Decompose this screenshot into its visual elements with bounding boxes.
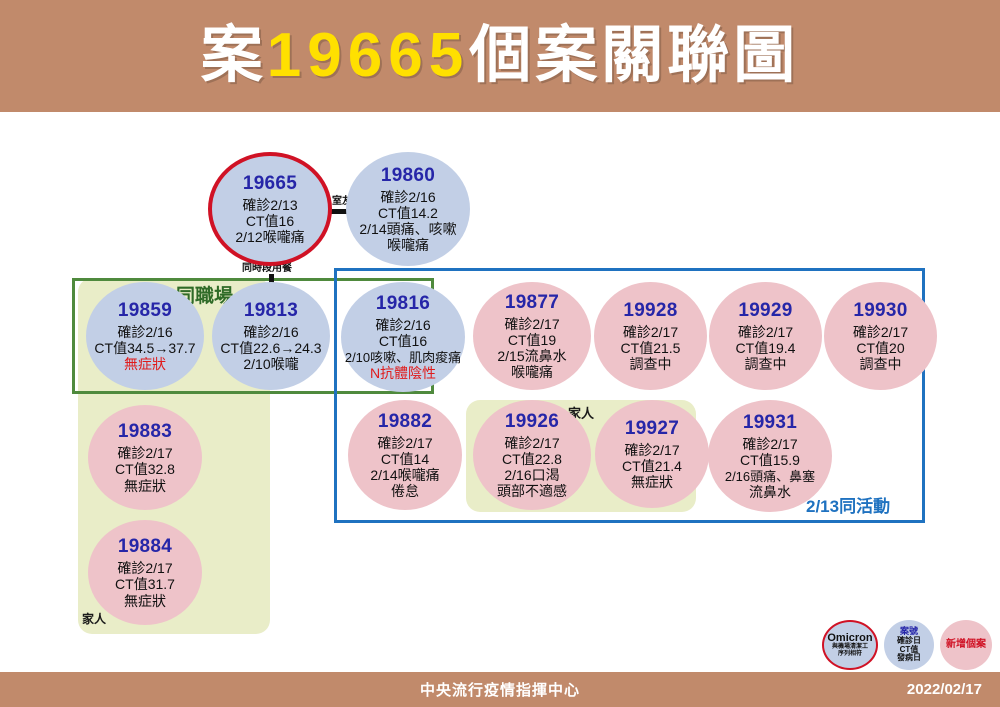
ct-value-highlight: 14.2 [411, 205, 438, 221]
family-group-left-label: 家人 [82, 610, 106, 627]
case-node-line: CT值32.8 [115, 461, 175, 477]
case-node-19816[interactable]: 19816 確診2/16 CT值16 2/10咳嗽、肌肉痠痛 N抗體陰性 [341, 282, 465, 392]
case-node-line: 確診2/17 [623, 324, 678, 340]
ct-value-highlight: →37.7 [154, 340, 195, 356]
case-node-line: CT值19 [508, 332, 556, 348]
case-node-line: CT值16 [379, 333, 427, 349]
case-node-line: 調查中 [860, 356, 902, 372]
case-node-line: 無症狀 [124, 356, 166, 372]
case-node-line: 2/16頭痛、鼻塞 [725, 469, 815, 484]
case-node-19926[interactable]: 19926 確診2/17 CT值22.8 2/16口渴 頭部不適感 [473, 400, 591, 510]
case-node-line: 頭部不適感 [497, 483, 567, 499]
case-node-id: 19926 [505, 411, 559, 433]
case-node-line: 確診2/17 [504, 316, 559, 332]
case-node-line: 無症狀 [124, 593, 166, 609]
case-node-19930[interactable]: 19930 確診2/17 CT值20 調查中 [824, 282, 937, 390]
case-node-line: 2/14頭痛、咳嗽 [359, 221, 456, 237]
header-band: 案19665個案關聯圖 [0, 0, 1000, 112]
case-node-id: 19816 [376, 293, 430, 315]
case-node-line: 2/12喉嚨痛 [235, 229, 304, 245]
case-node-line: 確診2/16 [375, 317, 430, 333]
case-node-id: 19931 [743, 412, 797, 434]
case-node-line: CT值20 [856, 340, 904, 356]
case-node-19877[interactable]: 19877 確診2/17 CT值19 2/15流鼻水 喉嚨痛 [473, 282, 591, 390]
case-node-id: 19860 [381, 165, 435, 187]
case-node-id: 19882 [378, 411, 432, 433]
case-node-19859[interactable]: 19859 確診2/16 CT值34.5→37.7 無症狀 [86, 282, 204, 390]
case-node-line: 無症狀 [631, 474, 673, 490]
case-node-19928[interactable]: 19928 確診2/17 CT值21.5 調查中 [594, 282, 707, 390]
case-node-line: CT值21.5 [621, 340, 681, 356]
case-node-line: 確診2/17 [742, 436, 797, 452]
footer-date: 2022/02/17 [907, 681, 982, 698]
page-title-suffix: 個案關聯圖 [469, 21, 799, 90]
ct-label: CT值22.6 [220, 340, 280, 356]
ct-value-highlight: →24.3 [280, 340, 321, 356]
page-title-case-number: 19665 [267, 21, 469, 90]
legend-new-case: 新增個案 [940, 620, 992, 670]
case-node-line: 確診2/17 [117, 560, 172, 576]
case-node-line: 確診2/17 [624, 442, 679, 458]
case-node-line: 2/10喉嚨 [243, 356, 298, 372]
case-node-line: 喉嚨痛 [511, 364, 553, 380]
case-node-line: CT值22.6→24.3 [220, 340, 321, 356]
case-node-id: 19665 [243, 173, 297, 195]
case-node-line: 確診2/17 [504, 435, 559, 451]
footer-organization: 中央流行疫情指揮中心 [420, 679, 580, 700]
legend-omicron-line3: 序列相符 [838, 651, 862, 657]
legend-new-case-label: 新增個案 [946, 640, 986, 651]
case-node-line: CT值14 [381, 451, 429, 467]
legend-omicron: Omicron 與機場清潔工 序列相符 [822, 620, 878, 670]
case-node-id: 19884 [118, 536, 172, 558]
case-node-id: 19859 [118, 300, 172, 322]
case-node-19929[interactable]: 19929 確診2/17 CT值19.4 調查中 [709, 282, 822, 390]
case-node-id: 19928 [623, 300, 677, 322]
case-node-line: CT值31.7 [115, 576, 175, 592]
activity-group-label: 2/13同活動 [806, 492, 890, 517]
page-title-prefix: 案 [201, 21, 267, 90]
case-node-19665[interactable]: 19665 確診2/13 CT值16 2/12喉嚨痛 [208, 152, 332, 266]
case-node-line: N抗體陰性 [370, 365, 436, 381]
case-node-id: 19813 [244, 300, 298, 322]
case-node-19931[interactable]: 19931 確診2/17 CT值15.9 2/16頭痛、鼻塞 流鼻水 [708, 400, 832, 512]
case-node-line: 調查中 [630, 356, 672, 372]
case-node-line: 2/15流鼻水 [497, 348, 566, 364]
case-node-line: CT值19.4 [736, 340, 796, 356]
footer-band: 中央流行疫情指揮中心 2022/02/17 [0, 672, 1000, 707]
case-node-line: 確診2/16 [380, 189, 435, 205]
case-node-line: CT值22.8 [502, 451, 562, 467]
case-node-line: 確診2/17 [853, 324, 908, 340]
ct-label: CT值34.5 [94, 340, 154, 356]
case-node-line: 倦怠 [391, 483, 419, 499]
case-node-line: 無症狀 [124, 478, 166, 494]
case-node-id: 19929 [738, 300, 792, 322]
case-node-id: 19930 [853, 300, 907, 322]
case-node-line: CT值14.2 [378, 205, 438, 221]
case-node-line: CT值34.5→37.7 [94, 340, 195, 356]
case-node-19860[interactable]: 19860 確診2/16 CT值14.2 2/14頭痛、咳嗽 喉嚨痛 [346, 152, 470, 266]
case-node-19882[interactable]: 19882 確診2/17 CT值14 2/14喉嚨痛 倦怠 [348, 400, 462, 510]
case-node-line: 確診2/17 [377, 435, 432, 451]
case-node-id: 19877 [505, 292, 559, 314]
case-node-line: CT值21.4 [622, 458, 682, 474]
case-node-line: 確診2/13 [242, 197, 297, 213]
legend-omicron-title: Omicron [827, 633, 872, 645]
case-node-id: 19927 [625, 418, 679, 440]
case-node-line: 流鼻水 [749, 484, 791, 500]
page-title: 案19665個案關聯圖 [201, 25, 799, 87]
case-node-line: 確診2/17 [738, 324, 793, 340]
case-node-line: 確診2/16 [117, 324, 172, 340]
case-node-19884[interactable]: 19884 確診2/17 CT值31.7 無症狀 [88, 520, 202, 625]
ct-label: CT值 [378, 205, 411, 221]
case-node-19813[interactable]: 19813 確診2/16 CT值22.6→24.3 2/10喉嚨 [212, 282, 330, 390]
case-node-19883[interactable]: 19883 確診2/17 CT值32.8 無症狀 [88, 405, 202, 510]
case-node-line: 2/16口渴 [504, 467, 559, 483]
case-node-line: 調查中 [745, 356, 787, 372]
case-node-19927[interactable]: 19927 確診2/17 CT值21.4 無症狀 [595, 400, 709, 508]
case-node-line: CT值16 [246, 213, 294, 229]
case-node-line: 喉嚨痛 [387, 237, 429, 253]
legend-case-line3: 發病日 [897, 654, 921, 663]
case-node-line: 確診2/17 [117, 445, 172, 461]
case-node-line: CT值15.9 [740, 452, 800, 468]
case-node-line: 2/10咳嗽、肌肉痠痛 [345, 350, 461, 365]
case-node-line: 確診2/16 [243, 324, 298, 340]
case-node-id: 19883 [118, 421, 172, 443]
case-node-line: 2/14喉嚨痛 [370, 467, 439, 483]
legend-case-format: 案號 確診日 CT值 發病日 [884, 620, 934, 670]
